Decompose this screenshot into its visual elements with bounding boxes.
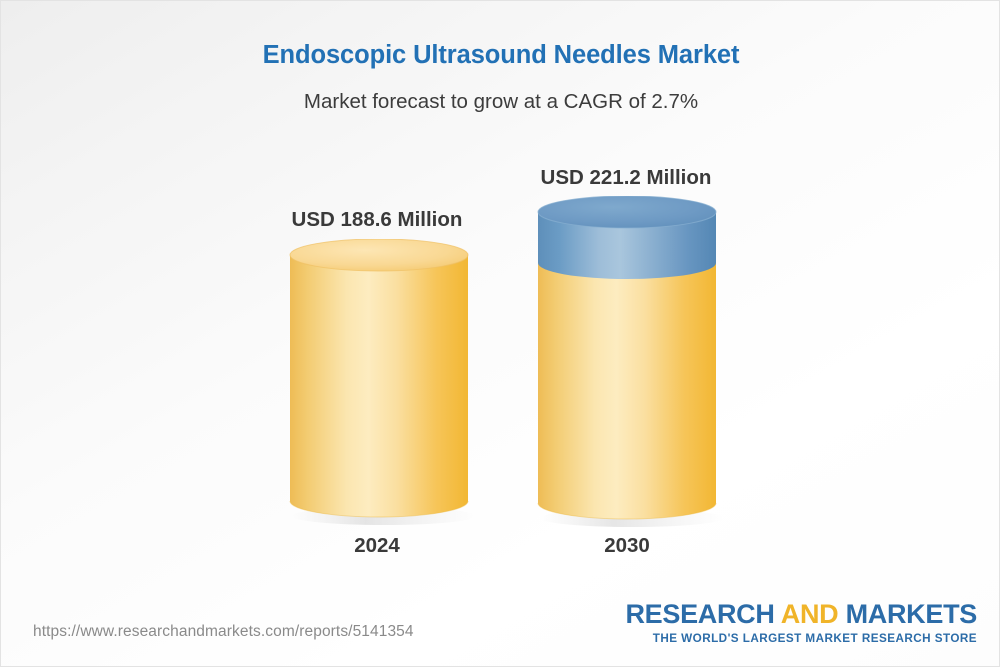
research-and-markets-logo[interactable]: RESEARCH AND MARKETS THE WORLD'S LARGEST… — [625, 601, 977, 645]
value-label-2030: USD 221.2 Million — [476, 166, 776, 190]
logo-word-research: RESEARCH — [625, 599, 774, 629]
source-url[interactable]: https://www.researchandmarkets.com/repor… — [33, 623, 414, 641]
logo-word-markets: MARKETS — [846, 599, 977, 629]
chart-canvas: Endoscopic Ultrasound Needles Market Mar… — [0, 0, 1000, 667]
logo-tagline: THE WORLD'S LARGEST MARKET RESEARCH STOR… — [625, 632, 977, 645]
category-label-2030: 2030 — [477, 534, 777, 558]
logo-word-and: AND — [781, 599, 839, 629]
logo-wordmark: RESEARCH AND MARKETS — [625, 601, 977, 628]
cylinder-2024 — [284, 239, 474, 529]
value-label-2024: USD 188.6 Million — [227, 208, 527, 232]
cylinder-2030 — [532, 196, 722, 531]
page-title: Endoscopic Ultrasound Needles Market — [1, 41, 1000, 70]
chart-subtitle: Market forecast to grow at a CAGR of 2.7… — [1, 90, 1000, 114]
